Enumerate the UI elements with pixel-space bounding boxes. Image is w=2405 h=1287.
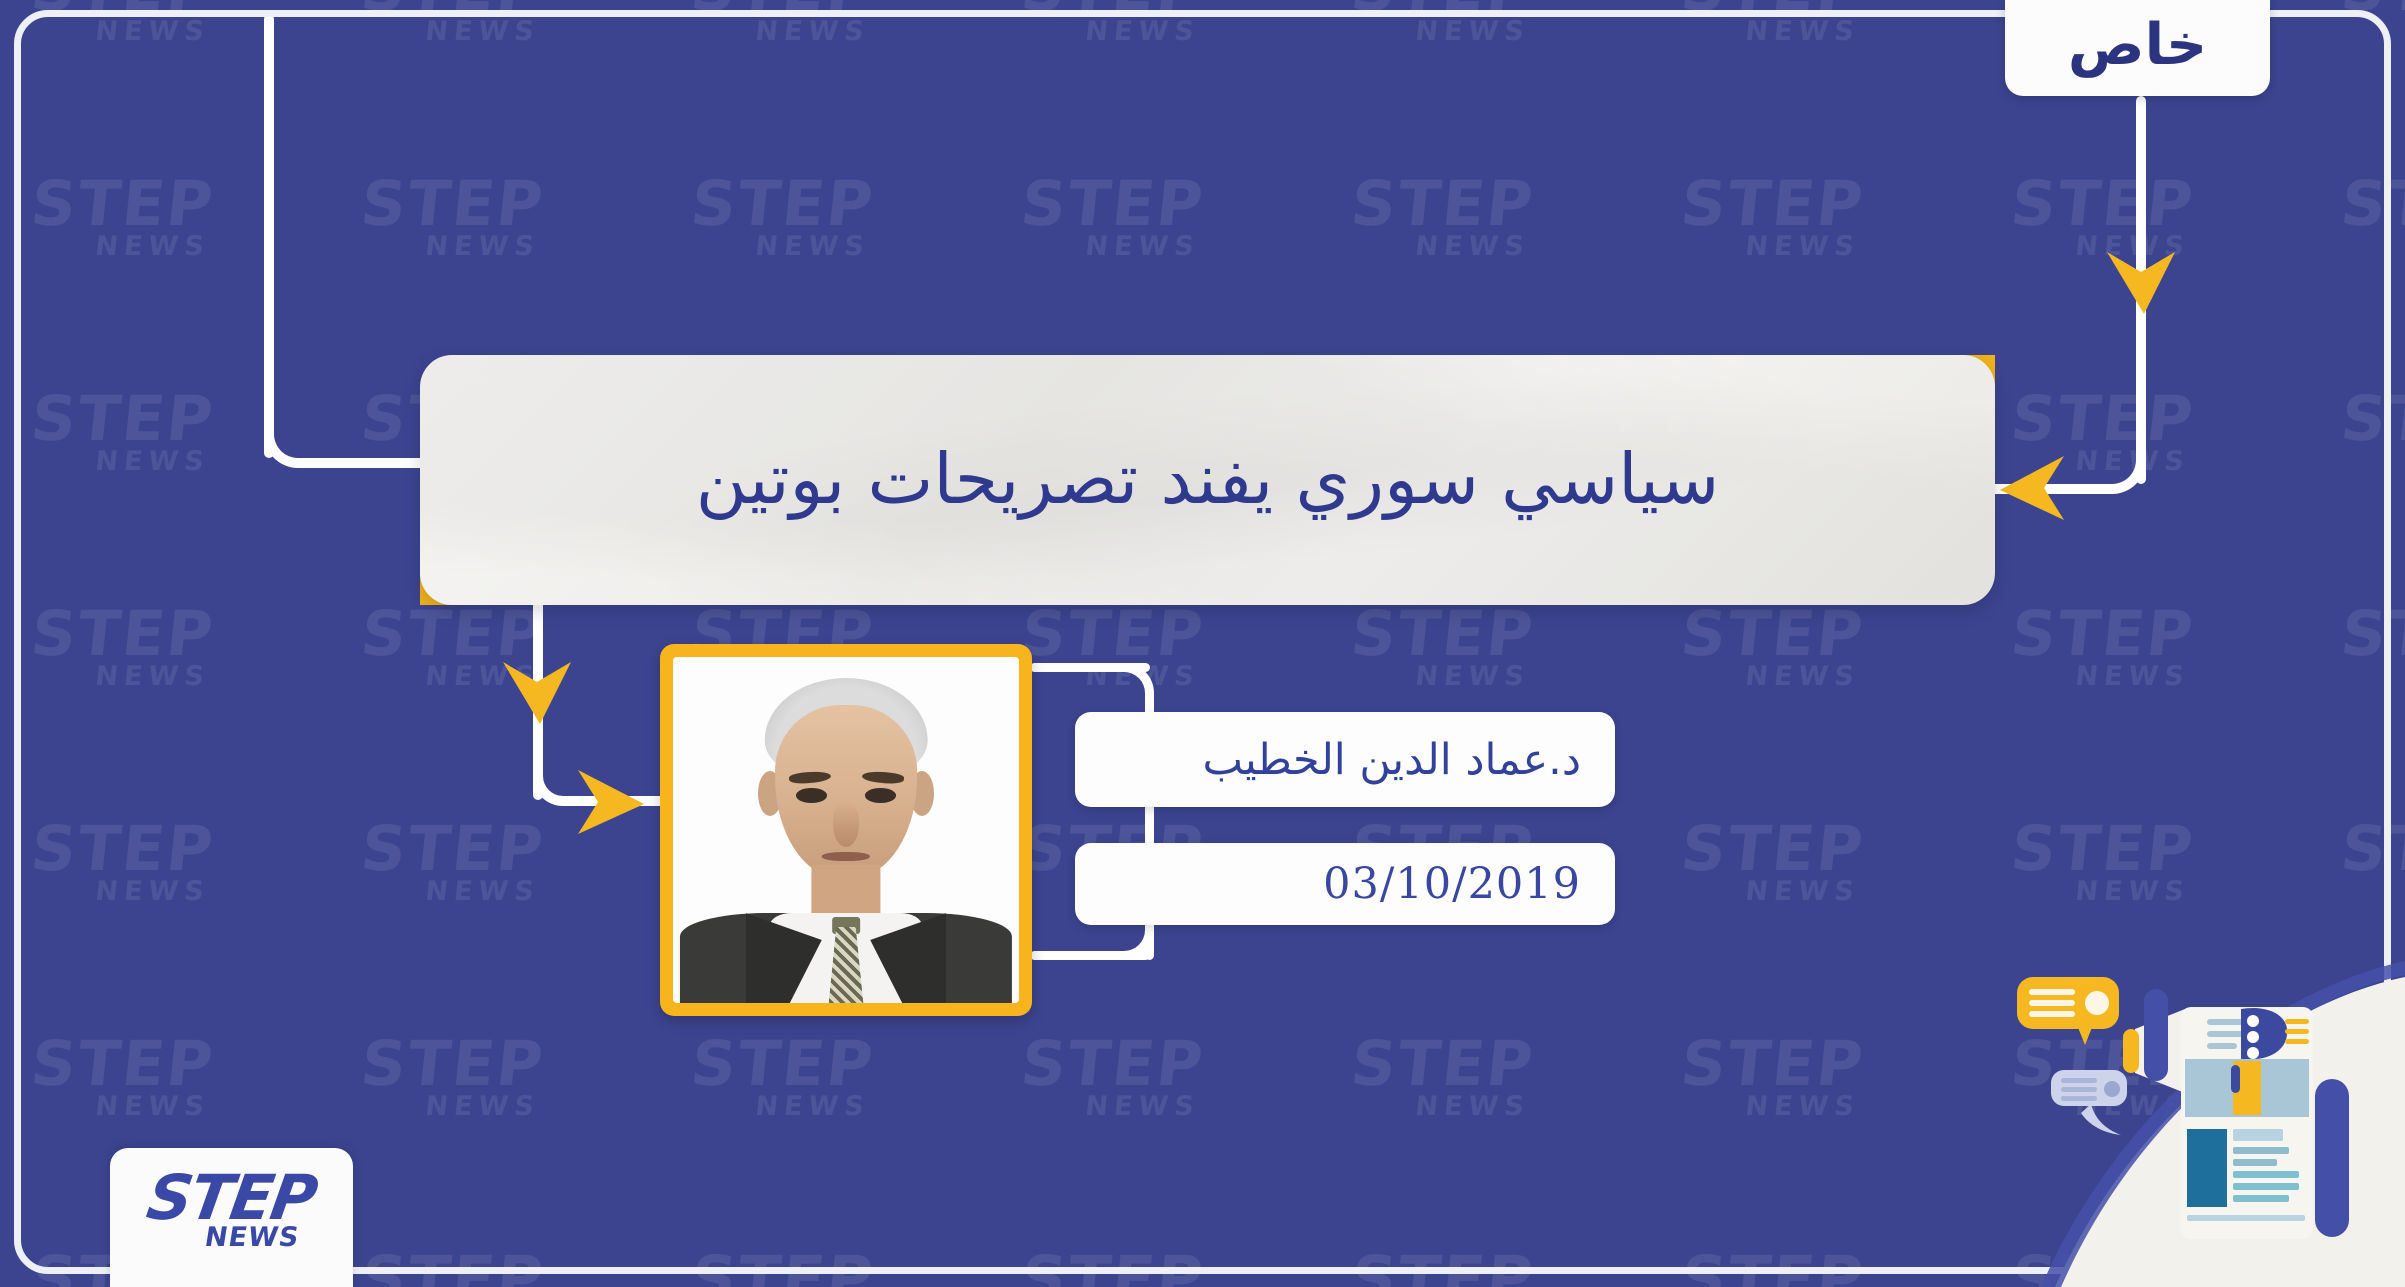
arrow-down-icon	[500, 658, 574, 728]
poster-canvas: STEPNEWSSTEPNEWSSTEPNEWSSTEPNEWSSTEPNEWS…	[0, 0, 2405, 1287]
portrait-photo	[673, 657, 1019, 1003]
watermark-tile: STEPNEWS	[26, 0, 218, 45]
watermark-tile: STEPNEWS	[2336, 175, 2405, 260]
watermark-tile: STEPNEWS	[1346, 175, 1538, 260]
logo-news-text: NEWS	[203, 1224, 302, 1251]
watermark-tile: STEPNEWS	[356, 1250, 548, 1287]
watermark-tile: STEPNEWS	[356, 1035, 548, 1120]
special-badge[interactable]: خاص	[2005, 0, 2270, 96]
watermark-tile: STEPNEWS	[1016, 1250, 1208, 1287]
watermark-tile: STEPNEWS	[1676, 0, 1868, 45]
watermark-tile: STEPNEWS	[686, 1250, 878, 1287]
watermark-tile: STEPNEWS	[1016, 0, 1208, 45]
watermark-tile: STEPNEWS	[2006, 175, 2198, 260]
arrow-right-icon	[572, 766, 648, 838]
watermark-tile: STEPNEWS	[686, 0, 878, 45]
watermark-tile: STEPNEWS	[26, 390, 218, 475]
person-name-label: د.عماد الدين الخطيب	[1202, 735, 1581, 785]
watermark-tile: STEPNEWS	[2336, 820, 2405, 905]
watermark-tile: STEPNEWS	[356, 820, 548, 905]
arrow-down-icon	[2104, 248, 2178, 318]
watermark-tile: STEPNEWS	[2336, 390, 2405, 475]
watermark-tile: STEPNEWS	[1676, 605, 1868, 690]
watermark-tile: STEPNEWS	[686, 175, 878, 260]
watermark-tile: STEPNEWS	[26, 1035, 218, 1120]
step-news-logo: STEP NEWS	[110, 1148, 353, 1287]
publish-date-label: 03/10/2019	[1323, 859, 1581, 909]
watermark-tile: STEPNEWS	[1346, 0, 1538, 45]
headline-card: سياسي سوري يفند تصريحات بوتين	[420, 355, 1995, 605]
watermark-tile: STEPNEWS	[356, 175, 548, 260]
watermark-tile: STEPNEWS	[1676, 820, 1868, 905]
speech-bubble-icon	[2051, 1070, 2127, 1135]
special-badge-label: خاص	[2068, 17, 2207, 80]
watermark-tile: STEPNEWS	[1346, 605, 1538, 690]
watermark-tile: STEPNEWS	[26, 605, 218, 690]
watermark-tile: STEPNEWS	[1676, 1035, 1868, 1120]
news-illustration	[1985, 947, 2405, 1287]
watermark-tile: STEPNEWS	[2006, 605, 2198, 690]
watermark-tile: STEPNEWS	[356, 0, 548, 45]
watermark-tile: STEPNEWS	[1016, 175, 1208, 260]
headline-card-wrapper: سياسي سوري يفند تصريحات بوتين	[420, 355, 1995, 605]
watermark-tile: STEPNEWS	[686, 1035, 878, 1120]
watermark-tile: STEPNEWS	[2336, 605, 2405, 690]
watermark-tile: STEPNEWS	[2006, 820, 2198, 905]
speech-bubble-icon	[2017, 977, 2119, 1045]
watermark-tile: STEPNEWS	[26, 820, 218, 905]
watermark-tile: STEPNEWS	[26, 175, 218, 260]
watermark-tile: STEPNEWS	[1016, 1035, 1208, 1120]
publish-date-box: 03/10/2019	[1075, 843, 1615, 925]
page-title: سياسي سوري يفند تصريحات بوتين	[636, 436, 1780, 524]
watermark-tile: STEPNEWS	[1346, 1250, 1538, 1287]
watermark-tile: STEPNEWS	[1676, 175, 1868, 260]
watermark-tile: STEPNEWS	[1676, 1250, 1868, 1287]
person-name-box: د.عماد الدين الخطيب	[1075, 712, 1615, 807]
watermark-tile: STEPNEWS	[2336, 0, 2405, 45]
logo-step-text: STEP	[144, 1170, 320, 1226]
portrait-frame	[660, 644, 1032, 1016]
arrow-left-icon	[1996, 452, 2068, 524]
watermark-tile: STEPNEWS	[1346, 1035, 1538, 1120]
megaphone-icon	[2123, 989, 2185, 1093]
